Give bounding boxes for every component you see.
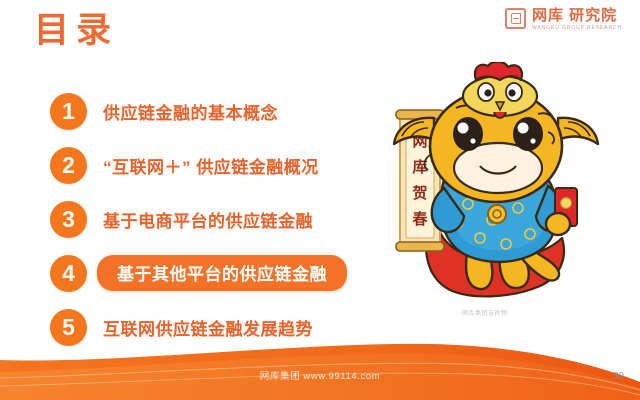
toc-label-1: 供应链金融的基本概念 <box>103 99 278 124</box>
table-of-contents: 1 供应链金融的基本概念 2 “互联网＋” 供应链金融概况 3 基于电商平台的供… <box>50 84 380 354</box>
toc-label-2: “互联网＋” 供应链金融概况 <box>103 153 319 178</box>
toc-item-3[interactable]: 3 基于电商平台的供应链金融 <box>50 192 380 246</box>
page-number: 30 <box>613 371 624 382</box>
scroll-char-3: 贺 <box>411 184 427 202</box>
toc-item-4[interactable]: 4 基于其他平台的供应链金融 <box>50 246 380 300</box>
toc-item-1[interactable]: 1 供应链金融的基本概念 <box>50 84 380 138</box>
slide-root: 网库 研究院 WANGKU GROUP RESEARCH 目录 1 供应链金融的… <box>0 0 640 400</box>
page-title: 目录 <box>34 13 118 48</box>
scroll-char-4: 春 <box>412 210 427 228</box>
toc-number-badge-2: 2 <box>50 147 87 184</box>
mascot-horn-right <box>558 118 598 144</box>
toc-label-4: 基于其他平台的供应链金融 <box>97 255 347 291</box>
toc-item-2[interactable]: 2 “互联网＋” 供应链金融概况 <box>50 138 380 192</box>
toc-label-3: 基于电商平台的供应链金融 <box>103 207 313 232</box>
wangku-ox-mascot-illustration: 网 库 贺 春 <box>372 62 622 324</box>
logo-name-cn: 网库 研究院 <box>532 8 622 23</box>
toc-number-badge-4: 4 <box>50 255 87 292</box>
mascot-rooster <box>463 62 537 118</box>
logo-glyph <box>511 13 521 24</box>
toc-label-5: 互联网供应链金融发展趋势 <box>103 315 313 340</box>
toc-number-badge-3: 3 <box>50 201 87 238</box>
footer-text: 网库集团 www.99114.com <box>0 368 640 382</box>
logo-name-en: WANGKU GROUP RESEARCH <box>532 26 622 31</box>
mascot-caption: 网库集团吉祥物 <box>462 308 508 317</box>
logo-text: 网库 研究院 WANGKU GROUP RESEARCH <box>532 8 622 31</box>
brand-logo: 网库 研究院 WANGKU GROUP RESEARCH <box>505 8 622 31</box>
wangku-box-logo-icon <box>505 8 526 29</box>
mascot-hand-right <box>546 213 570 235</box>
toc-number-badge-1: 1 <box>50 93 87 130</box>
